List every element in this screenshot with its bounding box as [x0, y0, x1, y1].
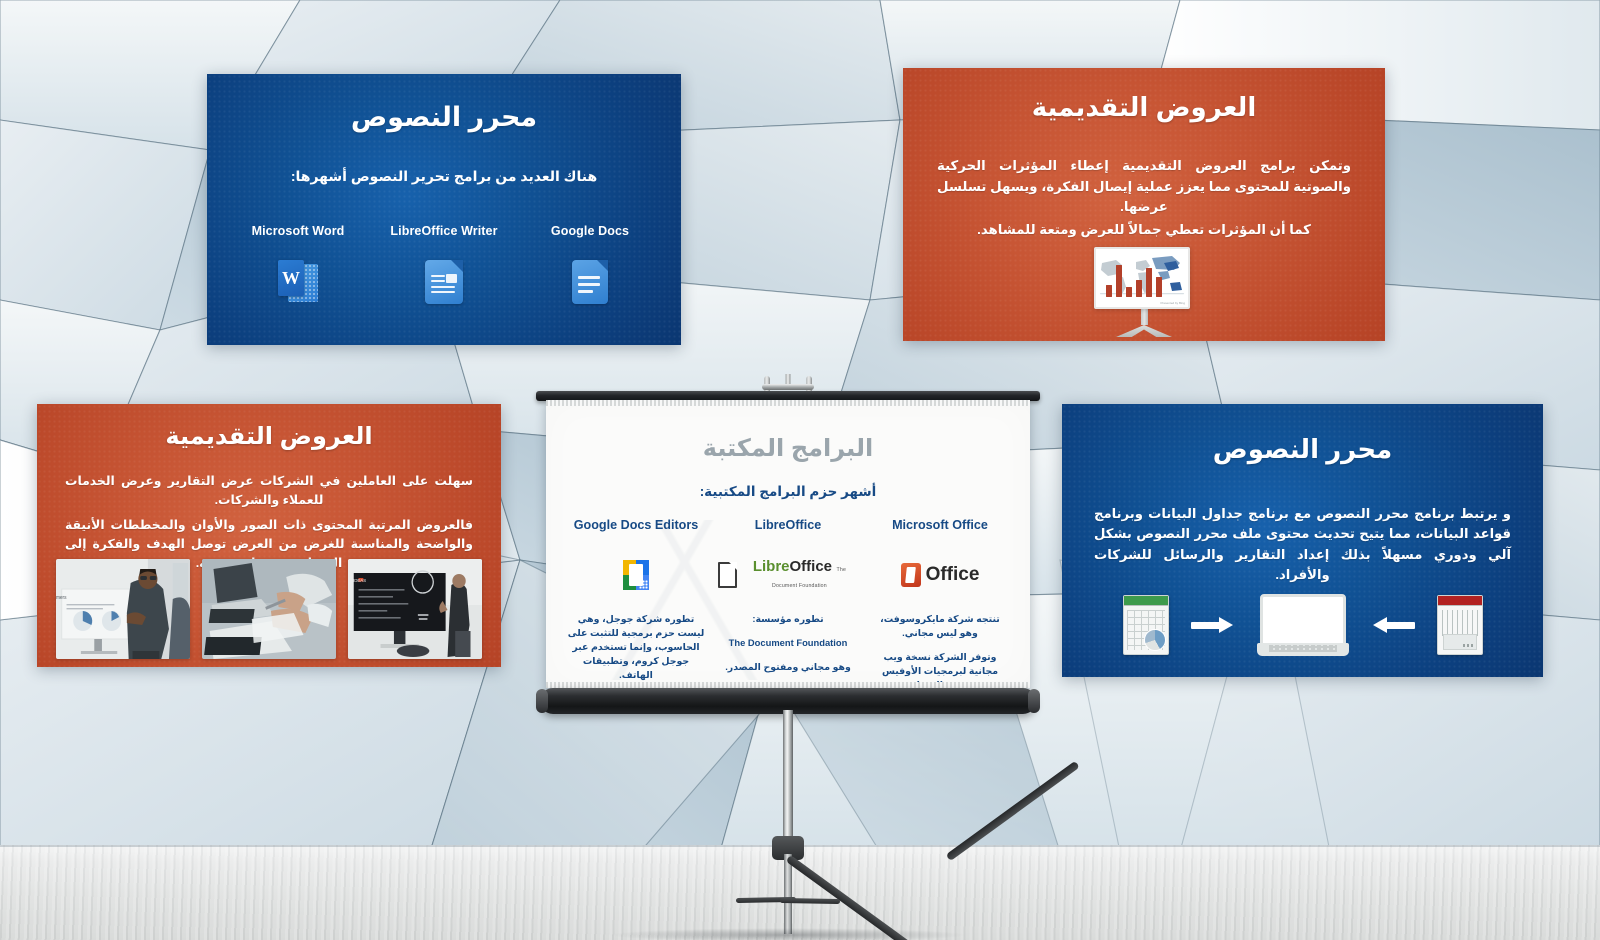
slide-text-editor-links[interactable]: محرر النصوص و يرتبط برنامج محرر النصوص م…	[1062, 404, 1543, 677]
suite-header: Microsoft Office	[870, 518, 1010, 532]
laptop-icon	[1257, 594, 1349, 656]
photo-hands-laptop-documents	[202, 559, 336, 659]
center-slide-subtitle: أشهر حزم البرامج المكتبية:	[546, 484, 1030, 500]
svg-text:Find your customers: Find your customers	[56, 595, 67, 601]
app-item-google-docs[interactable]: Google Docs	[517, 224, 663, 308]
suite-column-microsoft-office[interactable]: Microsoft Office Office تنتجه شركة مايكر…	[864, 518, 1016, 693]
arrow-right-icon	[1191, 619, 1235, 631]
arrow-left-icon	[1371, 619, 1415, 631]
chart-credit: Presented by Bing	[1160, 301, 1185, 305]
google-docs-editors-logo	[566, 548, 706, 602]
screen-canvas[interactable]: البرامج المكتبة أشهر حزم البرامج المكتبي…	[546, 400, 1030, 688]
tripod-pole-lower	[784, 854, 792, 934]
suite-header: LibreOffice	[718, 518, 858, 532]
tripod-projector-screen: البرامج المكتبة أشهر حزم البرامج المكتبي…	[528, 374, 1048, 914]
center-slide-title: البرامج المكتبة	[546, 434, 1030, 463]
scene-stage: محرر النصوص هناك العديد من برامج تحرير ا…	[0, 0, 1600, 940]
database-icon	[1437, 595, 1483, 655]
slide-presentations-intro[interactable]: العروض التقديمية وتمكن برامج العروض التق…	[903, 68, 1385, 341]
data-flow-diagram	[1092, 591, 1513, 659]
slide-presentations-benefits[interactable]: العروض التقديمية سهلت على العاملين في ال…	[37, 404, 501, 667]
photo-presenter-ideas-screen: IDEAS	[348, 559, 482, 659]
app-item-microsoft-word[interactable]: Microsoft Word W	[225, 224, 371, 308]
slide-paragraph-1: وتمكن برامج العروض التقديمية إعطاء المؤث…	[937, 156, 1351, 218]
app-label: Google Docs	[517, 224, 663, 238]
photo-man-presenting-charts: Find your customers	[56, 559, 190, 659]
app-item-libreoffice-writer[interactable]: LibreOffice Writer	[371, 224, 517, 308]
photo-strip: IDEAS	[56, 559, 482, 659]
suite-note-1: تنتجه شركة مايكروسوفت، وهو ليس مجاني.	[870, 612, 1010, 640]
libreoffice-logo: LibreOffice The Document Foundation	[718, 548, 858, 602]
monitor-with-world-map-bar-chart: Presented by Bing	[1098, 247, 1190, 337]
tripod-brace-right	[780, 898, 840, 904]
slide-title: العروض التقديمية	[903, 92, 1385, 123]
spreadsheet-icon	[1123, 595, 1169, 655]
microsoft-word-icon: W	[225, 256, 371, 308]
office-suite-columns: Microsoft Office Office تنتجه شركة مايكر…	[560, 518, 1016, 693]
microsoft-office-logo: Office	[870, 548, 1010, 602]
slide-title: محرر النصوص	[207, 102, 681, 133]
suite-column-google-docs-editors[interactable]: Google Docs Editors تطوره شركة جوجل، وهي…	[560, 518, 712, 693]
monitor-base	[1116, 325, 1172, 337]
suite-header: Google Docs Editors	[566, 518, 706, 532]
slide-subtitle: هناك العديد من برامج تحرير النصوص أشهرها…	[207, 168, 681, 185]
bar-chart	[1106, 265, 1162, 297]
tripod-pole-upper	[783, 710, 793, 845]
monitor-neck	[1141, 309, 1148, 325]
slide-title: محرر النصوص	[1062, 434, 1543, 465]
suite-note-1-ltr: The Document Foundation	[718, 636, 858, 650]
slide-paragraph-1: و يرتبط برنامج محرر النصوص مع برنامج جدا…	[1094, 504, 1511, 586]
slide-text-editor-intro[interactable]: محرر النصوص هناك العديد من برامج تحرير ا…	[207, 74, 681, 345]
app-label: Microsoft Word	[225, 224, 371, 238]
slide-paragraph-1: سهلت على العاملين في الشركات عرض التقاري…	[65, 472, 473, 510]
app-list: Google Docs LibreOffice Writer	[225, 224, 663, 308]
suite-note-2: وهو مجاني ومفتوح المصدر.	[718, 660, 858, 674]
suite-note-1: تطوره مؤسسة:	[718, 612, 858, 626]
screen-perforation-top	[546, 400, 1030, 406]
slide-title: العروض التقديمية	[37, 422, 501, 451]
suite-note-1: تطوره شركة جوجل، وهي ليست حزم برمجية للت…	[566, 612, 706, 683]
google-docs-icon	[517, 256, 663, 308]
app-label: LibreOffice Writer	[371, 224, 517, 238]
slide-paragraph-2: كما أن المؤثرات تعطي جمالاً للعرض ومتعة …	[937, 220, 1351, 241]
suite-column-libreoffice[interactable]: LibreOffice LibreOffice The Document Fou…	[712, 518, 864, 693]
svg-text:IDEAS: IDEAS	[353, 578, 366, 583]
libreoffice-writer-icon	[371, 256, 517, 308]
tripod-floor-shadow	[608, 928, 968, 940]
